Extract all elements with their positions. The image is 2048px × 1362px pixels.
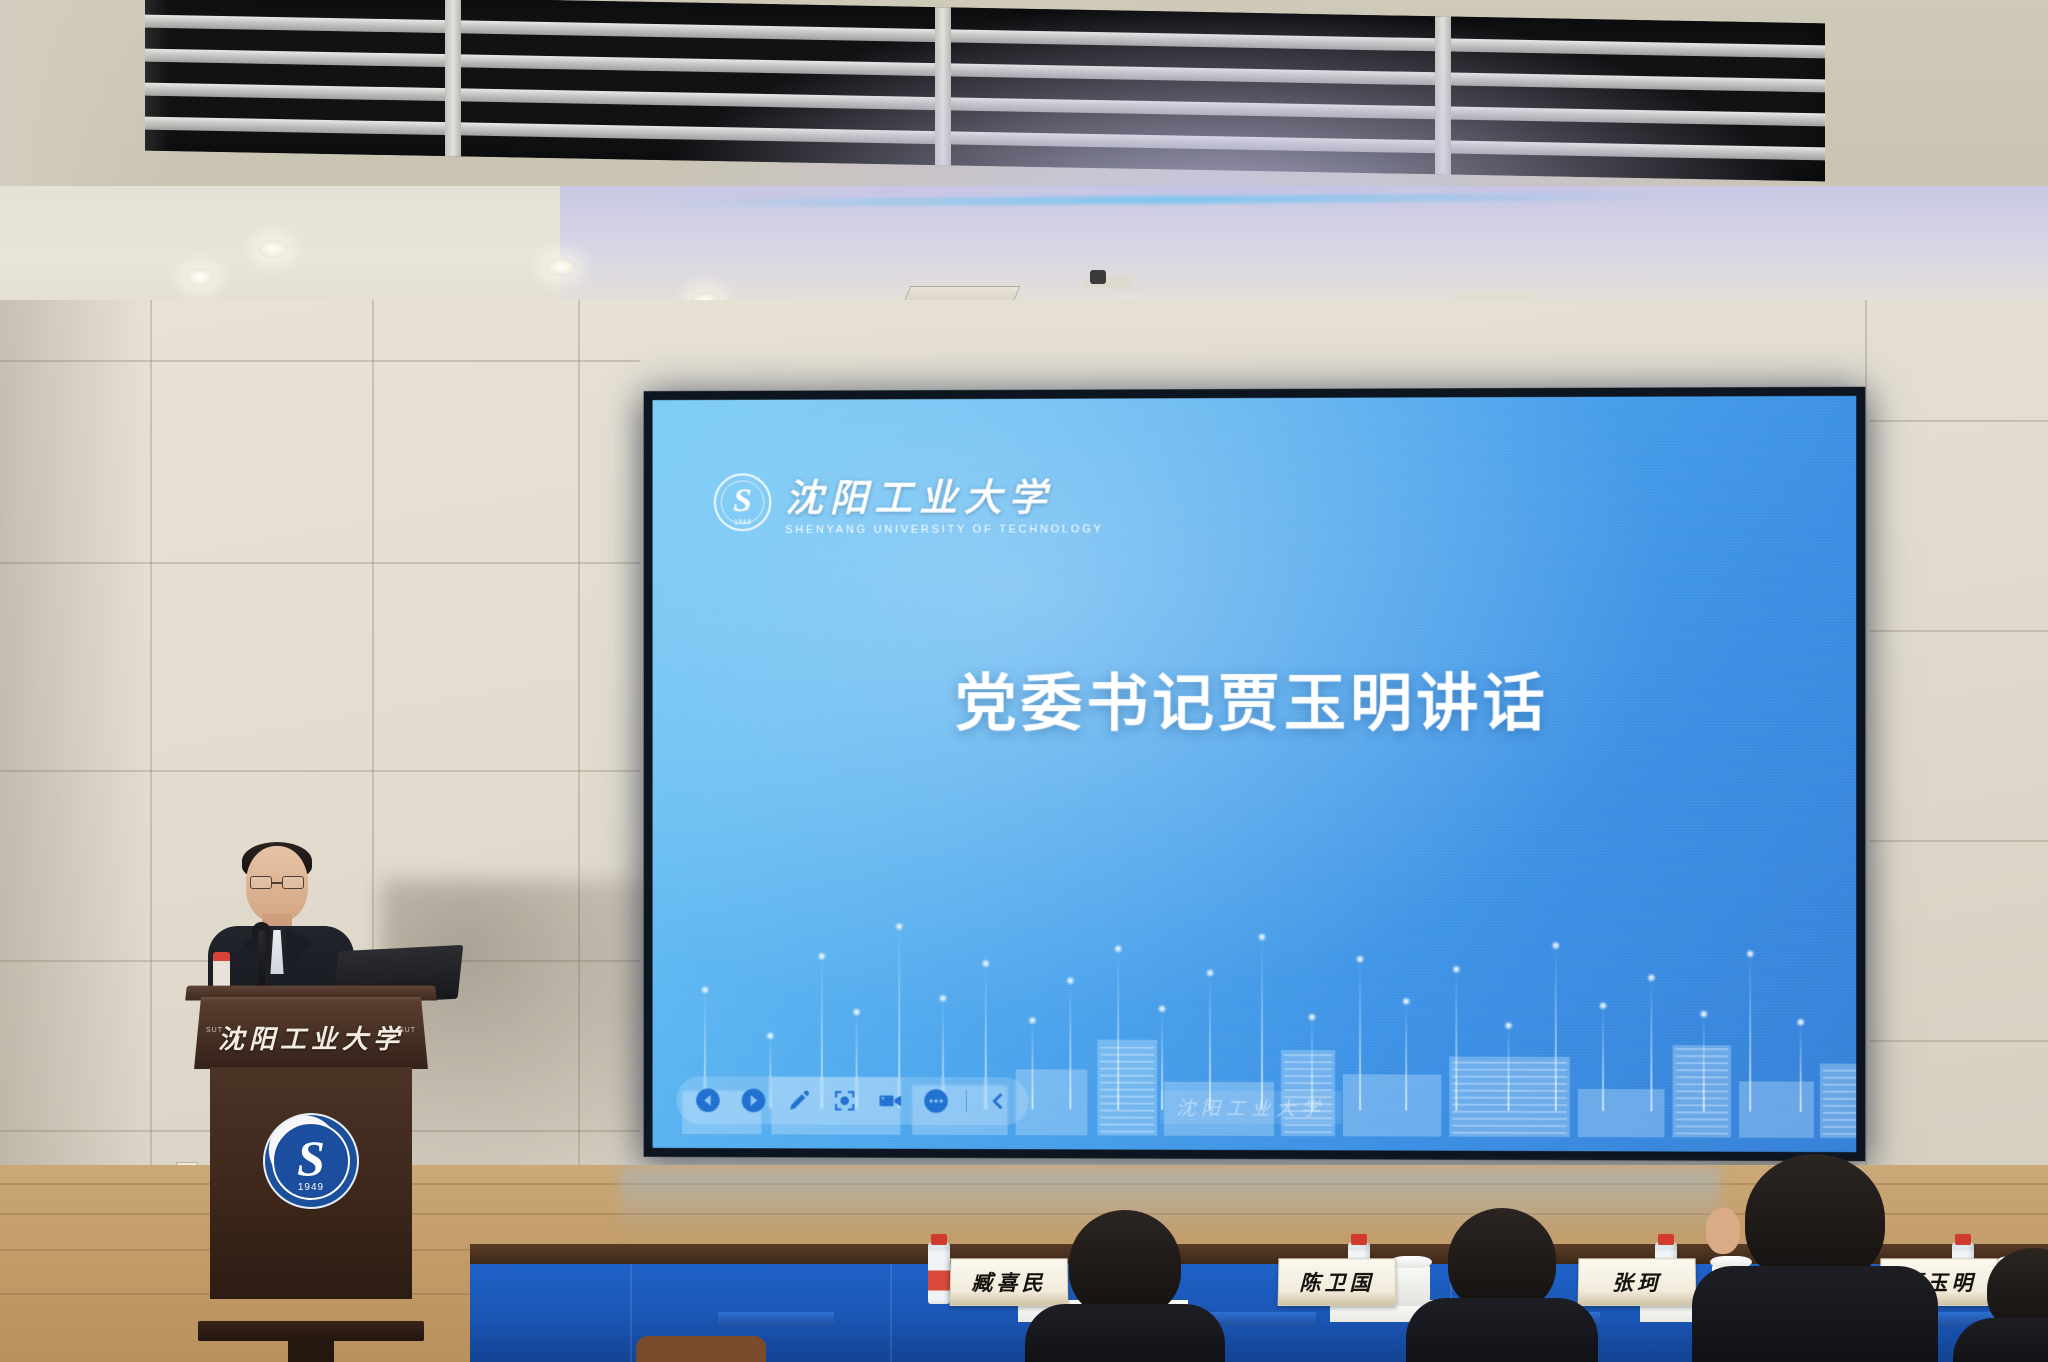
lectern: 沈阳工业大学 SUT SUT S 1949 [186,985,436,1325]
lectern-stem [288,1339,334,1362]
ceiling-downlight [258,240,288,258]
lectern-base [198,1321,424,1341]
logo-english-name: SHENYANG UNIVERSITY OF TECHNOLOGY [785,523,1103,536]
university-emblem-icon: S 1949 [263,1113,359,1209]
ceiling [0,0,2048,200]
slide-university-logo: S 1949 沈阳工业大学 SHENYANG UNIVERSITY OF TEC… [714,466,1104,536]
table-folder [718,1312,834,1326]
previous-slide-button[interactable] [688,1080,728,1120]
emblem-year: 1949 [298,1182,324,1193]
ceiling-downlight [185,268,215,286]
seal-year: 1949 [734,519,751,526]
lectern-front-panel: 沈阳工业大学 SUT SUT [194,997,428,1069]
seal-letter: S [733,484,752,518]
ceiling-slat-post [445,0,461,156]
wall-shading [0,300,150,1200]
ceiling-downlight [546,258,576,276]
lectern-university-name: 沈阳工业大学 [194,1019,428,1056]
ceiling-camera-dome [1090,270,1106,284]
collapse-toolbar-button[interactable] [977,1081,1017,1121]
record-video-button[interactable] [870,1081,910,1121]
more-options-button[interactable] [916,1081,956,1121]
university-seal-icon: S 1949 [714,473,771,531]
slide-canvas[interactable]: S 1949 沈阳工业大学 SHENYANG UNIVERSITY OF TEC… [653,396,1857,1152]
presentation-screen[interactable]: S 1949 沈阳工业大学 SHENYANG UNIVERSITY OF TEC… [644,387,1866,1161]
play-slide-button[interactable] [734,1081,774,1121]
nameplate: 陈卫国 [1278,1258,1397,1306]
presentation-toolbar[interactable] [676,1076,1028,1125]
emblem-letter: S [297,1133,325,1183]
nameplate: 张珂 [1578,1258,1697,1306]
toolbar-divider [966,1090,967,1112]
ceiling-left-glow [0,0,170,200]
conference-hall-photo: S 1949 沈阳工业大学 SHENYANG UNIVERSITY OF TEC… [0,0,2048,1362]
lectern-side-mark-right: SUT [399,1027,416,1034]
attendee [1958,1266,2048,1362]
attendee [1700,1172,1930,1362]
annotate-pen-button[interactable] [779,1081,819,1121]
slide-title: 党委书记贾玉明讲话 [653,652,1857,743]
microphone-stem [258,930,265,992]
ceiling-slat-post [1435,16,1451,174]
glasses-icon [250,876,304,889]
ceiling-metal-strip [145,83,1825,127]
ceiling-slat-post [935,7,951,165]
ceiling-slat-panel [145,0,1825,181]
logo-chinese-name: 沈阳工业大学 [785,466,1103,522]
attendee [1030,1232,1220,1362]
ceiling-metal-strip [145,15,1825,59]
nameplate-text: 张珂 [1612,1267,1662,1297]
chair-back [636,1336,766,1362]
nameplate-text: 陈卫国 [1299,1267,1374,1297]
attendee [1412,1222,1592,1362]
water-bottle [928,1242,950,1304]
ceiling-metal-strip [145,117,1825,161]
spotlight-focus-button[interactable] [825,1081,865,1121]
ceiling-metal-strip [145,49,1825,93]
slide-watermark: 沈阳工业大学 [1160,1091,1342,1125]
lectern-side-mark-left: SUT [206,1027,223,1034]
